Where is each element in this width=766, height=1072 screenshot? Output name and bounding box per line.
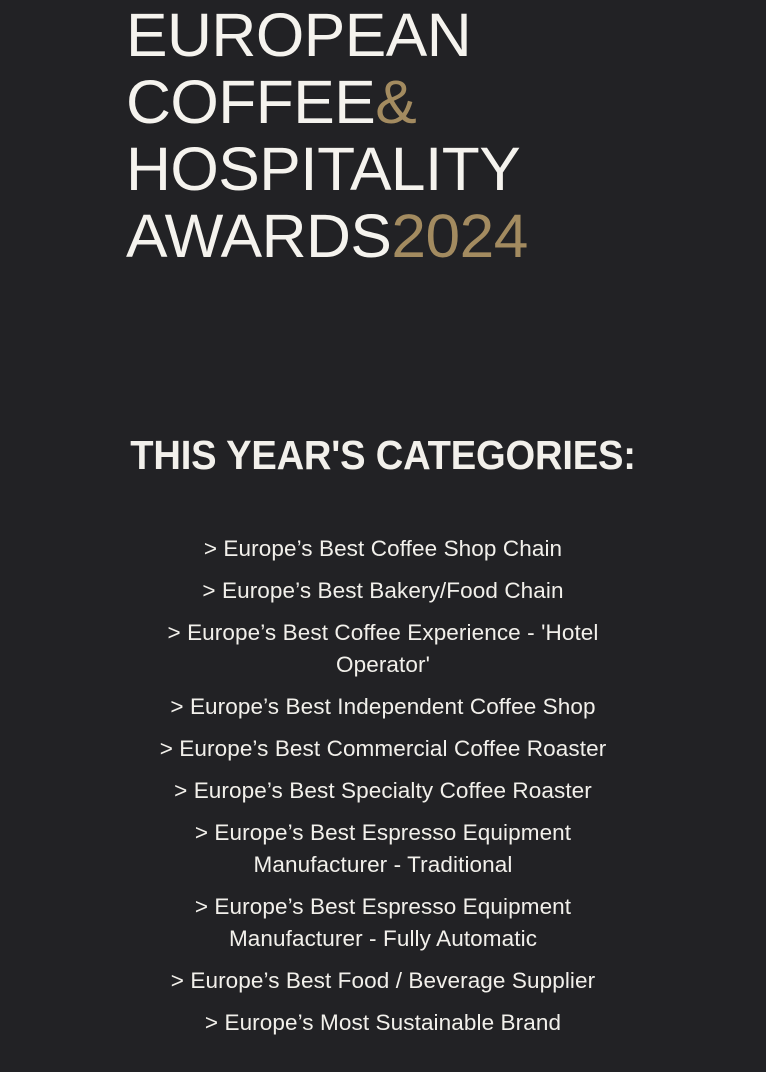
logo-line-coffee: COFFEE& bbox=[126, 73, 697, 132]
logo-year-2024: 2024 bbox=[391, 202, 527, 270]
logo-word-awards: AWARDS bbox=[126, 202, 391, 270]
categories-list: > Europe’s Best Coffee Shop Chain > Euro… bbox=[0, 533, 766, 1039]
logo-line-awards: AWARDS2024 bbox=[126, 207, 697, 266]
category-item: > Europe’s Best Specialty Coffee Roaster bbox=[147, 775, 619, 807]
categories-heading: THIS YEAR'S CATEGORIES: bbox=[27, 434, 739, 477]
category-item: > Europe’s Best Coffee Experience - 'Hot… bbox=[147, 617, 619, 681]
category-item: > Europe’s Most Sustainable Brand bbox=[147, 1007, 619, 1039]
category-item: > Europe’s Best Food / Beverage Supplier bbox=[147, 965, 619, 997]
category-item: > Europe’s Best Bakery/Food Chain bbox=[147, 575, 619, 607]
awards-poster: EUROPEAN COFFEE& HOSPITALITY AWARDS2024 … bbox=[0, 0, 766, 1072]
category-item: > Europe’s Best Independent Coffee Shop bbox=[147, 691, 619, 723]
event-logo: EUROPEAN COFFEE& HOSPITALITY AWARDS2024 bbox=[126, 6, 686, 267]
category-item: > Europe’s Best Espresso Equipment Manuf… bbox=[147, 891, 619, 955]
logo-word-coffee: COFFEE bbox=[126, 68, 375, 136]
category-item: > Europe’s Best Commercial Coffee Roaste… bbox=[147, 733, 619, 765]
logo-ampersand: & bbox=[375, 68, 416, 136]
category-item: > Europe’s Best Espresso Equipment Manuf… bbox=[147, 817, 619, 881]
logo-line-european: EUROPEAN bbox=[126, 6, 697, 65]
category-item: > Europe’s Best Coffee Shop Chain bbox=[147, 533, 619, 565]
logo-line-hospitality: HOSPITALITY bbox=[126, 140, 697, 199]
